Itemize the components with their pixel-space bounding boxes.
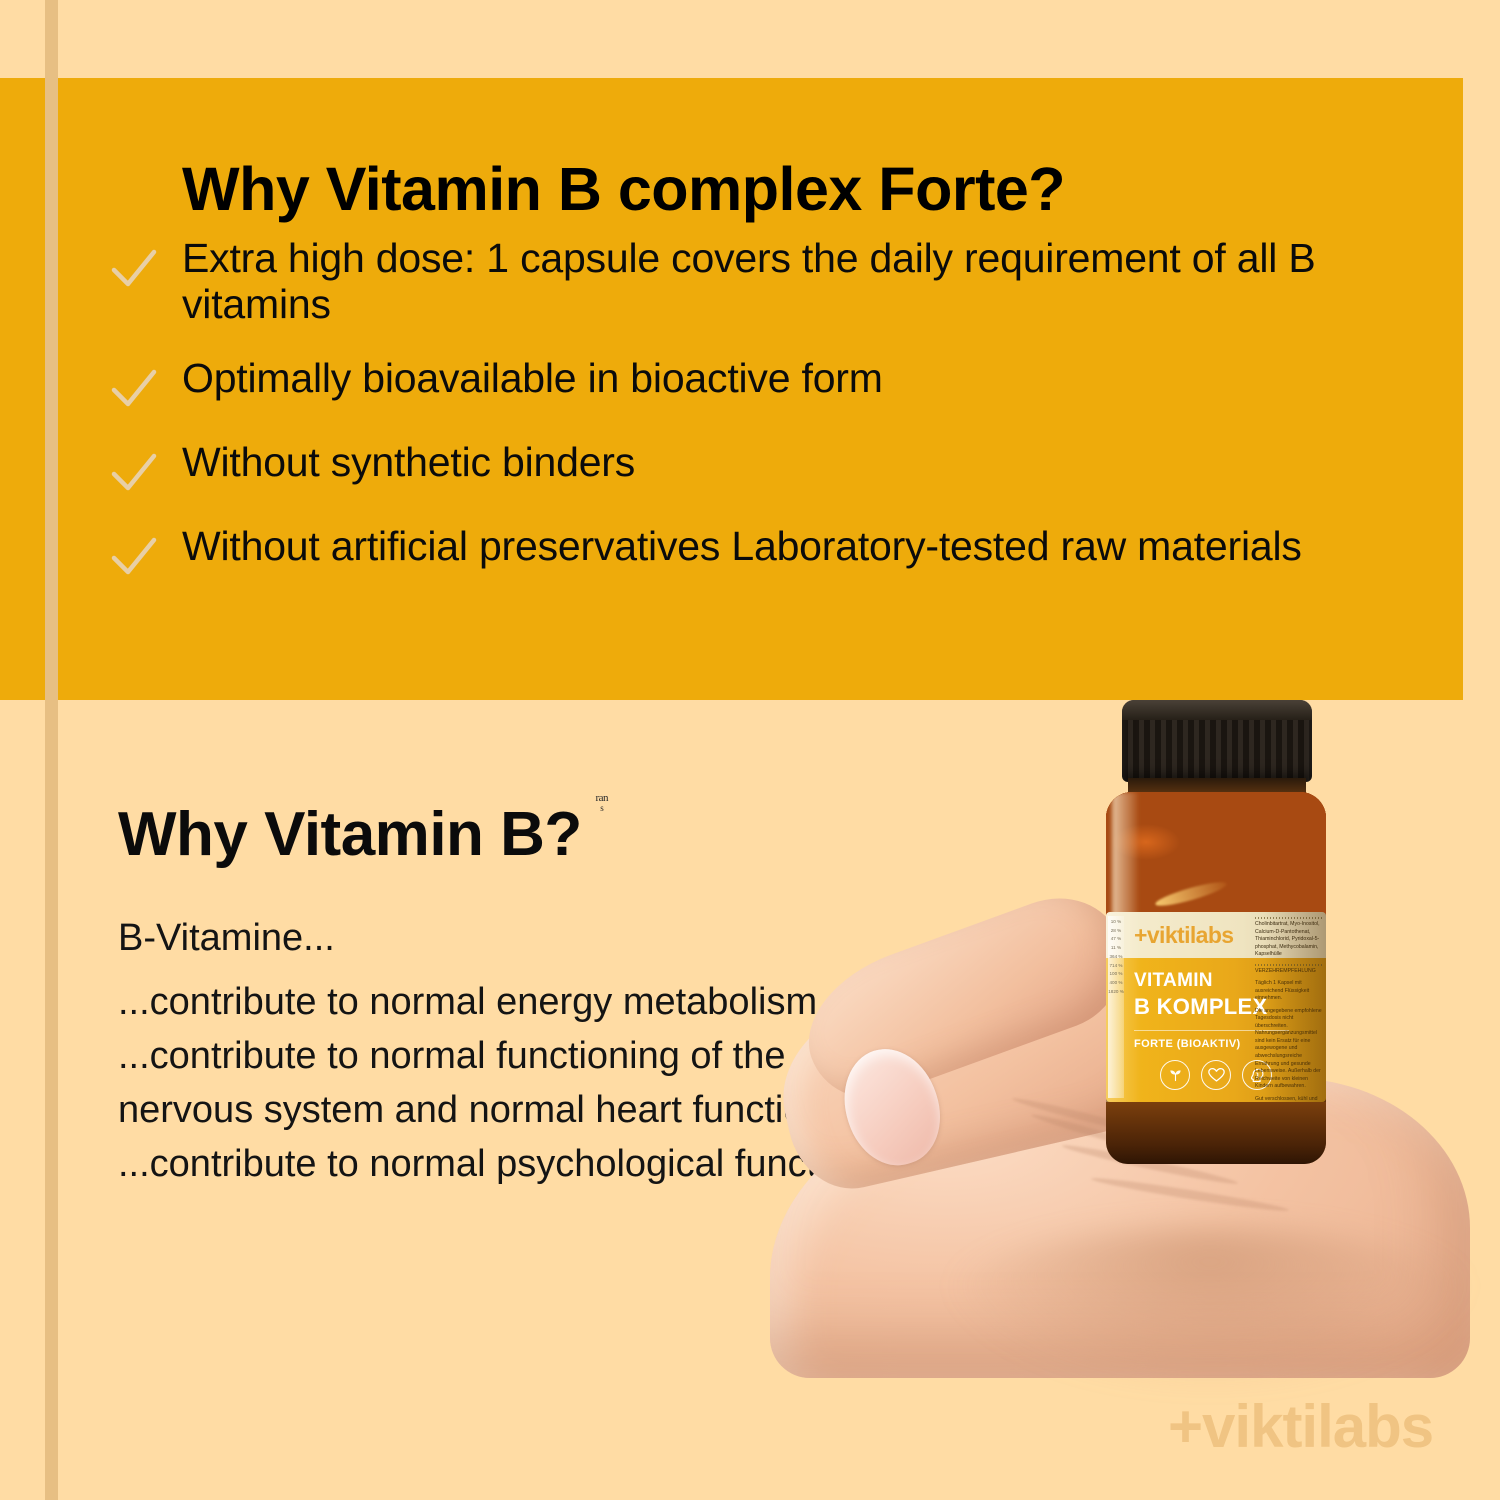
label-notice: Die angegebene empfohlene Tagesdosis nic… bbox=[1255, 1008, 1324, 1091]
percent-value: 714 % bbox=[1108, 962, 1124, 971]
benefit-text: Extra high dose: 1 capsule covers the da… bbox=[160, 236, 1408, 328]
label-percent-strip: 10 % 28 % 47 % 11 % 364 % 714 % 100 % 40… bbox=[1108, 916, 1124, 1098]
label-ingredients: Cholinbitartrat, Myo-Inositol, Calcium-D… bbox=[1255, 921, 1324, 959]
benefit-text: Without artificial preservatives Laborat… bbox=[160, 524, 1408, 570]
left-vertical-rule bbox=[45, 0, 58, 1500]
percent-value: 1820 % bbox=[1108, 988, 1124, 997]
check-icon bbox=[108, 450, 160, 496]
label-usage-heading: VERZEHREMPFEHLUNG bbox=[1255, 968, 1324, 976]
benefit-item: Without synthetic binders bbox=[108, 440, 1408, 496]
label-dot-rule bbox=[1255, 917, 1324, 919]
benefit-item: Without artificial preservatives Laborat… bbox=[108, 524, 1408, 580]
label-storage: Gut verschlossen, kühl und trocken lager… bbox=[1255, 1096, 1324, 1102]
bottle-cap-top bbox=[1122, 700, 1312, 720]
plant-sprout-icon bbox=[1160, 1060, 1190, 1090]
percent-value: 47 % bbox=[1108, 935, 1124, 944]
section-title-text: Why Vitamin B? bbox=[118, 800, 582, 869]
label-dot-rule bbox=[1255, 964, 1324, 966]
percent-value: 364 % bbox=[1108, 953, 1124, 962]
label-title-line2: B KOMPLEX bbox=[1134, 994, 1268, 1020]
benefit-text: Optimally bioavailable in bioactive form bbox=[160, 356, 1408, 402]
section-title: Why Vitamin B? ran s bbox=[118, 799, 582, 870]
heart-icon bbox=[1201, 1060, 1231, 1090]
supplement-bottle: +viktilabs VITAMIN B KOMPLEX FORTE (BIOA… bbox=[1098, 700, 1334, 1170]
check-icon bbox=[108, 246, 160, 292]
label-brand: +viktilabs bbox=[1134, 922, 1233, 949]
benefits-list: Extra high dose: 1 capsule covers the da… bbox=[108, 236, 1408, 608]
label-title-line1: VITAMIN bbox=[1134, 970, 1268, 992]
percent-value: 100 % bbox=[1108, 970, 1124, 979]
label-usage: Täglich 1 Kapsel mit ausreichend Flüssig… bbox=[1255, 980, 1324, 1003]
percent-value: 11 % bbox=[1108, 944, 1124, 953]
label-subtitle: FORTE (BIOAKTIV) bbox=[1134, 1038, 1241, 1050]
benefits-panel: Why Vitamin B complex Forte? Extra high … bbox=[0, 78, 1463, 700]
percent-value: 400 % bbox=[1108, 979, 1124, 988]
promo-page: Why Vitamin B complex Forte? Extra high … bbox=[0, 0, 1500, 1500]
bottle-base bbox=[1106, 1102, 1326, 1164]
percent-value: 28 % bbox=[1108, 927, 1124, 936]
percent-value: 10 % bbox=[1108, 918, 1124, 927]
check-icon bbox=[108, 534, 160, 580]
check-icon bbox=[108, 366, 160, 412]
benefit-text: Without synthetic binders bbox=[160, 440, 1408, 486]
benefit-item: Optimally bioavailable in bioactive form bbox=[108, 356, 1408, 412]
title-artifact: ran s bbox=[582, 793, 622, 813]
label-side-text: Cholinbitartrat, Myo-Inositol, Calcium-D… bbox=[1252, 912, 1326, 1102]
title-artifact-line2: s bbox=[582, 804, 622, 813]
label-product-title: VITAMIN B KOMPLEX bbox=[1134, 970, 1268, 1020]
palm-shadow bbox=[940, 1228, 1480, 1388]
bottle-label: +viktilabs VITAMIN B KOMPLEX FORTE (BIOA… bbox=[1106, 912, 1326, 1102]
benefit-item: Extra high dose: 1 capsule covers the da… bbox=[108, 236, 1408, 328]
panel-title: Why Vitamin B complex Forte? bbox=[182, 154, 1065, 224]
product-photo: +viktilabs VITAMIN B KOMPLEX FORTE (BIOA… bbox=[760, 700, 1500, 1500]
